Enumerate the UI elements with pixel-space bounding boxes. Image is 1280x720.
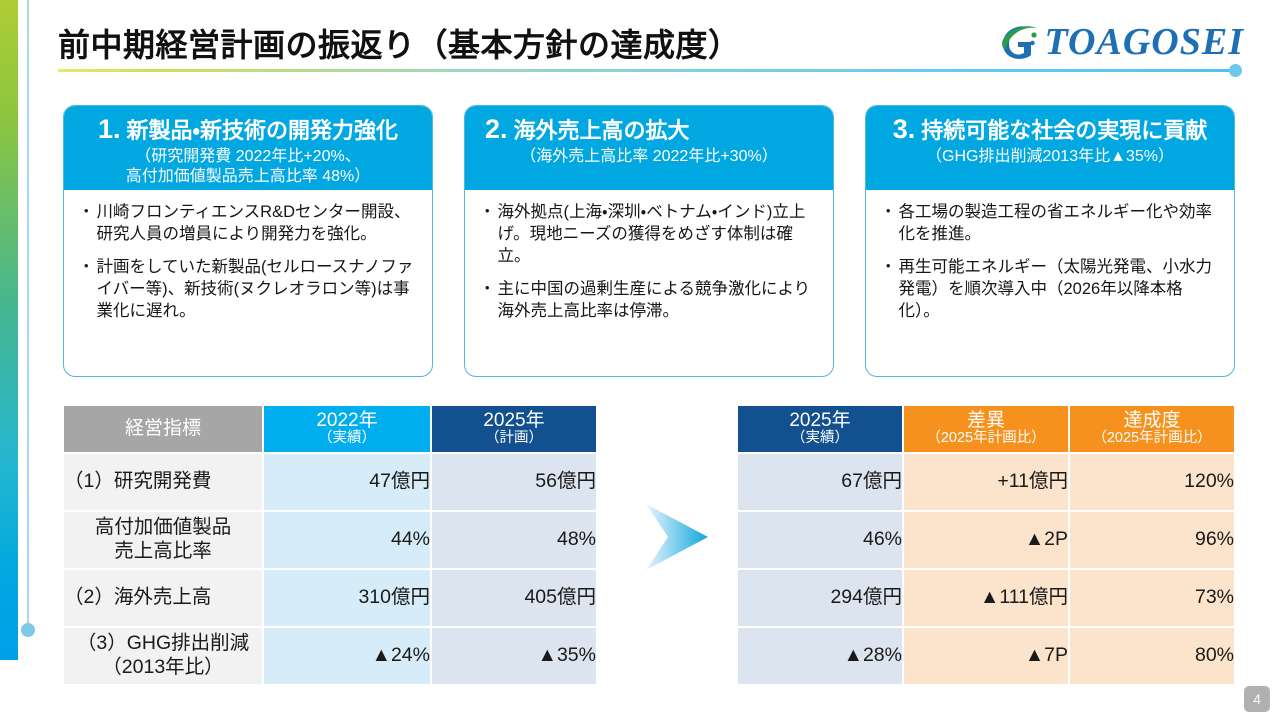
table-header-row: 2025年 （実績） 差異 （2025年計画比） 達成度 （2025年計画比）	[738, 406, 1234, 452]
toagosei-logo: TOAGOSEI	[999, 22, 1244, 62]
cell-2025actual-ghg-reduction: ▲28%	[738, 628, 902, 684]
left-edge-vertical-line	[27, 0, 29, 630]
cell-2022-high-value-ratio: 44%	[264, 512, 430, 568]
table-header-row: 経営指標 2022年 （実績） 2025年 （計画）	[64, 406, 596, 452]
logo-wordmark: TOAGOSEI	[1045, 23, 1244, 61]
strategy-box-3-bullet-1: 各工場の製造工程の省エネルギー化や効率化を推進。	[899, 202, 1223, 246]
cell-diff-overseas-sales: ▲111億円	[904, 570, 1068, 626]
strategy-box-3-bullet-2: 再生可能エネルギー（太陽光発電、小水力発電）を順次導入中（2026年以降本格化）…	[899, 257, 1223, 323]
strategy-box-1: 1. 新製品・新技術の開発力強化 （研究開発費 2022年比+20%、 高付加価…	[63, 105, 433, 377]
table-row: （1）研究開発費 47億円 56億円	[64, 454, 596, 510]
col-header-difference: 差異 （2025年計画比）	[904, 406, 1068, 452]
strategy-box-1-bullet-1: 川崎フロンティエンスR&Dセンター開設、研究人員の増員により開発力を強化。	[97, 202, 421, 246]
strategy-box-2-body: ・ 海外拠点(上海・深圳・ベトナム・インド)立上げ。現地ニーズの獲得をめざす体制…	[465, 190, 833, 376]
strategy-box-2-header: 2. 海外売上高の拡大 （海外売上高比率 2022年比+30%）	[465, 106, 833, 190]
cell-rate-high-value-ratio: 96%	[1070, 512, 1234, 568]
bullet-dot-icon: ・	[78, 202, 95, 246]
cell-2025plan-ghg-reduction: ▲35%	[432, 628, 596, 684]
cell-rate-overseas-sales: 73%	[1070, 570, 1234, 626]
row-label-ghg-reduction: （3）GHG排出削減 （2013年比）	[64, 628, 262, 684]
row-label-rd-expense: （1）研究開発費	[64, 454, 262, 510]
left-edge-gradient-bar	[0, 0, 18, 660]
slide-root: 前中期経営計画の振返り（基本方針の達成度） TOAGOSEI 1. 新製品・新技…	[0, 0, 1280, 720]
cell-2022-ghg-reduction: ▲24%	[264, 628, 430, 684]
cell-diff-ghg-reduction: ▲7P	[904, 628, 1068, 684]
bullet-dot-icon: ・	[479, 202, 496, 268]
list-item: ・ 各工場の製造工程の省エネルギー化や効率化を推進。	[880, 202, 1222, 246]
strategy-box-2-bullet-2: 主に中国の過剰生産による競争激化により海外売上高比率は停滞。	[498, 279, 822, 323]
strategy-box-1-number: 1.	[98, 114, 121, 145]
col-header-indicator: 経営指標	[64, 406, 262, 452]
strategy-box-2-bullet-1: 海外拠点(上海・深圳・ベトナム・インド)立上げ。現地ニーズの獲得をめざす体制は確…	[498, 202, 822, 268]
strategy-box-2-subtitle-line1: （海外売上高比率 2022年比+30%）	[475, 147, 823, 167]
cell-2025actual-overseas-sales: 294億円	[738, 570, 902, 626]
bullet-dot-icon: ・	[479, 279, 496, 323]
strategy-box-3: 3. 持続可能な社会の実現に貢献 （GHG排出削減2013年比▲35%） ・ 各…	[865, 105, 1235, 377]
cell-2025actual-high-value-ratio: 46%	[738, 512, 902, 568]
cell-2025plan-rd-expense: 56億円	[432, 454, 596, 510]
strategy-box-3-number: 3.	[893, 114, 916, 145]
list-item: ・ 再生可能エネルギー（太陽光発電、小水力発電）を順次導入中（2026年以降本格…	[880, 257, 1222, 323]
table-row: ▲28% ▲7P 80%	[738, 628, 1234, 684]
strategy-box-1-header: 1. 新製品・新技術の開発力強化 （研究開発費 2022年比+20%、 高付加価…	[64, 106, 432, 190]
table-row: 高付加価値製品 売上高比率 44% 48%	[64, 512, 596, 568]
cell-2025plan-high-value-ratio: 48%	[432, 512, 596, 568]
table-row: 294億円 ▲111億円 73%	[738, 570, 1234, 626]
title-underline-rule	[58, 69, 1234, 72]
bullet-dot-icon: ・	[880, 257, 897, 323]
list-item: ・ 主に中国の過剰生産による競争激化により海外売上高比率は停滞。	[479, 279, 821, 323]
cell-2022-overseas-sales: 310億円	[264, 570, 430, 626]
page-number-badge: 4	[1244, 686, 1270, 712]
kpi-table-right: 2025年 （実績） 差異 （2025年計画比） 達成度 （2025年計画比） …	[736, 404, 1236, 686]
table-row: （3）GHG排出削減 （2013年比） ▲24% ▲35%	[64, 628, 596, 684]
col-header-achievement: 達成度 （2025年計画比）	[1070, 406, 1234, 452]
strategy-box-1-title: 新製品・新技術の開発力強化	[127, 113, 398, 145]
table-row: 46% ▲2P 96%	[738, 512, 1234, 568]
row-label-overseas-sales: （2）海外売上高	[64, 570, 262, 626]
list-item: ・ 海外拠点(上海・深圳・ベトナム・インド)立上げ。現地ニーズの獲得をめざす体制…	[479, 202, 821, 268]
cell-2022-rd-expense: 47億円	[264, 454, 430, 510]
strategy-box-3-subtitle-line1: （GHG排出削減2013年比▲35%）	[876, 147, 1224, 167]
cell-rate-rd-expense: 120%	[1070, 454, 1234, 510]
strategy-box-1-subtitle-line1: （研究開発費 2022年比+20%、	[74, 147, 422, 167]
strategy-box-3-body: ・ 各工場の製造工程の省エネルギー化や効率化を推進。 ・ 再生可能エネルギー（太…	[866, 190, 1234, 376]
list-item: ・ 川崎フロンティエンスR&Dセンター開設、研究人員の増員により開発力を強化。	[78, 202, 420, 246]
bullet-dot-icon: ・	[78, 257, 95, 323]
logo-g-swoosh-icon	[999, 22, 1041, 62]
transition-chevron-arrow-icon	[638, 498, 716, 576]
cell-2025plan-overseas-sales: 405億円	[432, 570, 596, 626]
cell-diff-high-value-ratio: ▲2P	[904, 512, 1068, 568]
cell-diff-rd-expense: +11億円	[904, 454, 1068, 510]
strategy-box-3-title: 持続可能な社会の実現に貢献	[921, 113, 1207, 145]
col-header-2025-plan: 2025年 （計画）	[432, 406, 596, 452]
page-title: 前中期経営計画の振返り（基本方針の達成度）	[58, 20, 741, 66]
cell-2025actual-rd-expense: 67億円	[738, 454, 902, 510]
bullet-dot-icon: ・	[880, 202, 897, 246]
strategy-box-3-header: 3. 持続可能な社会の実現に貢献 （GHG排出削減2013年比▲35%）	[866, 106, 1234, 190]
list-item: ・ 計画をしていた新製品(セルロースナノファイバー等)、新技術(ヌクレオラロン等…	[78, 257, 420, 323]
table-row: （2）海外売上高 310億円 405億円	[64, 570, 596, 626]
strategy-box-1-bullet-2: 計画をしていた新製品(セルロースナノファイバー等)、新技術(ヌクレオラロン等)は…	[97, 257, 421, 323]
title-rule-end-dot	[1229, 64, 1242, 77]
table-row: 67億円 +11億円 120%	[738, 454, 1234, 510]
strategy-box-2: 2. 海外売上高の拡大 （海外売上高比率 2022年比+30%） ・ 海外拠点(…	[464, 105, 834, 377]
strategy-box-2-title: 海外売上高の拡大	[514, 113, 690, 145]
col-header-2025-actual: 2025年 （実績）	[738, 406, 902, 452]
row-label-high-value-ratio: 高付加価値製品 売上高比率	[64, 512, 262, 568]
kpi-table-left: 経営指標 2022年 （実績） 2025年 （計画） （1）研究開発費 47億円…	[62, 404, 598, 686]
left-edge-dot	[21, 623, 35, 637]
col-header-2022-actual: 2022年 （実績）	[264, 406, 430, 452]
cell-rate-ghg-reduction: 80%	[1070, 628, 1234, 684]
strategy-box-1-subtitle-line2: 高付加価値製品売上高比率 48%）	[74, 167, 422, 187]
strategy-box-1-body: ・ 川崎フロンティエンスR&Dセンター開設、研究人員の増員により開発力を強化。 …	[64, 190, 432, 376]
strategy-box-2-number: 2.	[485, 114, 508, 145]
